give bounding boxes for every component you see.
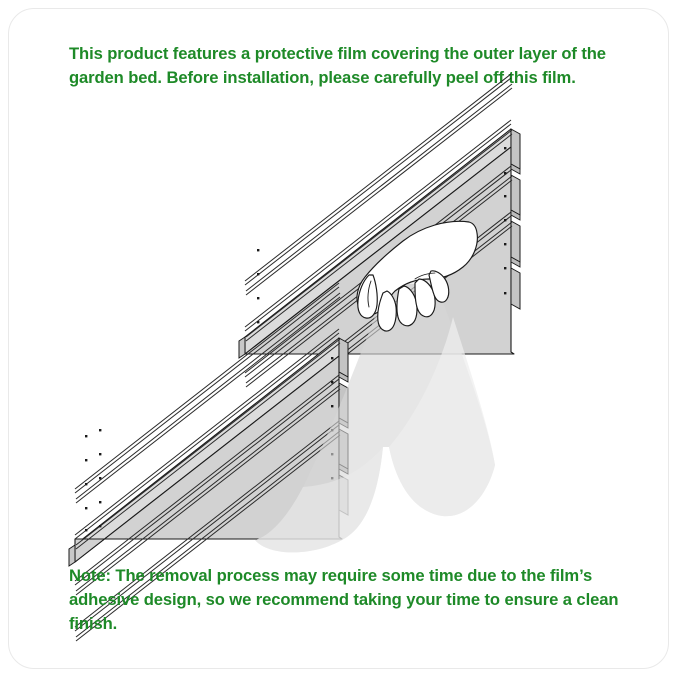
- illustration-root: [69, 74, 520, 641]
- instruction-card: This product features a protective film …: [8, 8, 669, 669]
- bottom-note-text: Note: The removal process may require so…: [69, 564, 624, 637]
